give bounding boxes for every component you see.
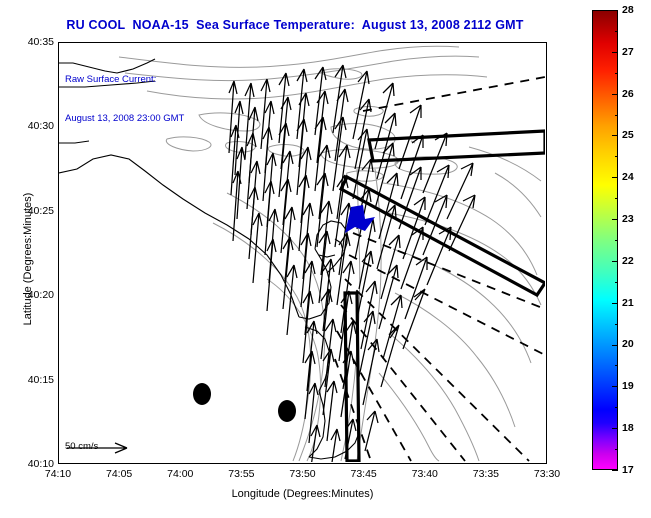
station-markers <box>193 383 296 422</box>
colorbar-tick-label: 17 <box>622 464 634 476</box>
x-tick-label: 74:10 <box>45 468 71 480</box>
colorbar-tick-label: 23 <box>622 213 634 225</box>
colorbar-tick-label: 26 <box>622 88 634 100</box>
x-tick-label: 73:45 <box>350 468 376 480</box>
x-axis-ticks: 74:10 74:05 74:00 73:55 73:50 73:45 73:4… <box>58 468 547 484</box>
x-tick-label: 73:50 <box>289 468 315 480</box>
x-tick-label: 74:05 <box>106 468 132 480</box>
temperature-colorbar <box>592 10 618 470</box>
y-tick-label: 40:30 <box>28 120 54 132</box>
x-tick-label: 73:30 <box>534 468 560 480</box>
scale-legend: 50 cm/s <box>65 441 98 453</box>
colorbar-tick-label: 18 <box>622 422 634 434</box>
y-axis-title: Latitude (Degrees:Minutes) <box>22 139 34 379</box>
x-tick-label: 73:55 <box>228 468 254 480</box>
colorbar-tick-label: 27 <box>622 46 634 58</box>
colorbar-tick-label: 24 <box>622 171 634 183</box>
y-tick-label: 40:35 <box>28 36 54 48</box>
map-plot-area[interactable]: Raw Surface Current: August 13, 2008 23:… <box>58 42 547 464</box>
annotation-line-1: Raw Surface Current: <box>65 73 184 86</box>
figure-title: RU COOL NOAA-15 Sea Surface Temperature:… <box>0 18 590 32</box>
x-tick-label: 73:40 <box>412 468 438 480</box>
x-tick-label: 73:35 <box>473 468 499 480</box>
x-tick-label: 74:00 <box>167 468 193 480</box>
sst-map-figure: RU COOL NOAA-15 Sea Surface Temperature:… <box>0 0 651 518</box>
colorbar-tick-label: 21 <box>622 297 634 309</box>
current-annotation: Raw Surface Current: August 13, 2008 23:… <box>65 47 184 151</box>
colorbar-tick-label: 19 <box>622 380 634 392</box>
colorbar-tick-label: 22 <box>622 255 634 267</box>
arrow-right-icon <box>65 441 135 455</box>
x-axis-title: Longitude (Degrees:Minutes) <box>58 488 547 500</box>
colorbar-tick-label: 20 <box>622 338 634 350</box>
annotation-line-2: August 13, 2008 23:00 GMT <box>65 112 184 125</box>
colorbar-tick-label: 25 <box>622 129 634 141</box>
colorbar-tick-label: 28 <box>622 4 634 16</box>
